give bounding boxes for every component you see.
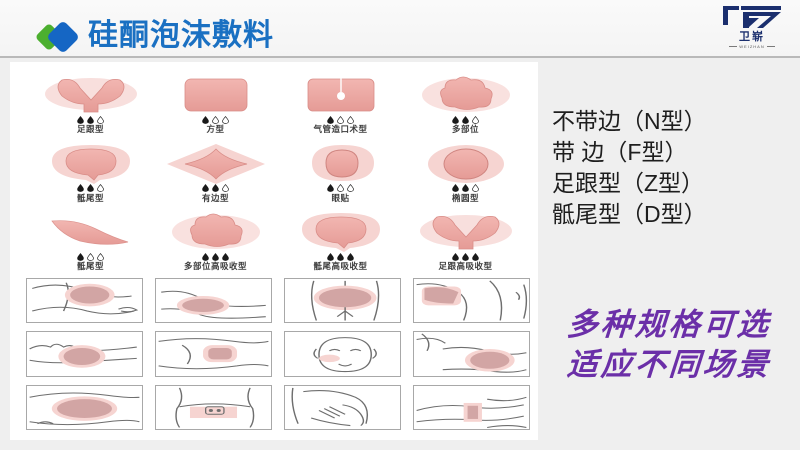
product-label: 多部位高吸收型 <box>184 261 247 272</box>
brand-pinyin-row: WEIZHAN <box>716 43 788 50</box>
product-label: 气管造口术型 <box>313 124 367 135</box>
product-cell[interactable]: 骶尾型 <box>28 205 153 273</box>
application-scene-grid <box>26 278 530 430</box>
scene-hip-side[interactable] <box>413 278 530 323</box>
product-label: 椭圆型 <box>452 193 479 204</box>
brand-dash-left <box>729 46 737 47</box>
product-cell[interactable]: 有边型 <box>153 136 278 204</box>
product-dressing-image <box>286 144 396 184</box>
product-type-name: 足跟型 <box>552 168 621 199</box>
product-dressing-image <box>411 75 521 115</box>
absorbency-droplet-rating <box>202 115 229 124</box>
product-label: 骶尾高吸收型 <box>313 261 367 272</box>
product-label: 骶尾型 <box>77 261 104 272</box>
scene-back-torso[interactable] <box>26 385 143 430</box>
scene-shoulder-arm[interactable] <box>26 278 143 323</box>
scene-knee-leg[interactable] <box>413 331 530 376</box>
absorbency-droplet-rating <box>327 184 354 193</box>
absorbency-droplet-rating <box>77 115 104 124</box>
product-dressing-image <box>36 144 146 184</box>
absorbency-droplet-rating <box>452 184 479 193</box>
absorbency-droplet-rating <box>77 184 104 193</box>
scene-neck-tracheostomy[interactable] <box>155 385 272 430</box>
product-dressing-image <box>36 75 146 115</box>
product-dressing-image <box>161 212 271 252</box>
product-type-name: 骶尾型 <box>552 199 621 230</box>
product-dressing-image <box>161 144 271 184</box>
page-title: 硅酮泡沫敷料 <box>88 17 274 55</box>
brand-name: 卫崭 <box>716 31 788 43</box>
scene-abdomen[interactable] <box>155 331 272 376</box>
product-cell[interactable]: 方型 <box>153 68 278 136</box>
scene-heel-foot[interactable] <box>26 331 143 376</box>
product-type-name: 带 边 <box>552 137 604 168</box>
product-dressing-image <box>286 212 396 252</box>
product-cell[interactable]: 足跟型 <box>28 68 153 136</box>
product-label: 方型 <box>206 124 224 135</box>
product-label: 有边型 <box>202 193 229 204</box>
header-divider <box>0 56 800 58</box>
slogan-line-2: 适应不同场景 <box>539 345 800 385</box>
product-label: 骶尾型 <box>77 193 104 204</box>
product-cell[interactable]: 多部位 <box>403 68 528 136</box>
product-cell[interactable]: 足跟高吸收型 <box>403 205 528 273</box>
product-type-row: 骶尾型（D型） <box>552 199 792 230</box>
scene-chest-hand[interactable] <box>284 385 401 430</box>
brand-logo: 卫崭 WEIZHAN <box>716 4 788 54</box>
page-header: 硅酮泡沫敷料 卫崭 WEIZHAN <box>0 0 800 58</box>
product-dressing-image <box>161 75 271 115</box>
product-cell[interactable]: 气管造口术型 <box>278 68 403 136</box>
absorbency-droplet-rating <box>202 252 229 261</box>
diamond-logo-icon <box>36 19 80 55</box>
product-panel: 足跟型 方型 气管造口术型 多部位 骶尾型 <box>10 62 538 440</box>
product-type-code: （F型） <box>604 137 687 168</box>
product-cell[interactable]: 骶尾型 <box>28 136 153 204</box>
product-type-name: 不带边 <box>552 106 621 137</box>
product-type-code: （D型） <box>621 199 707 230</box>
product-type-code: （Z型） <box>621 168 704 199</box>
product-label: 足跟型 <box>77 124 104 135</box>
brand-pinyin: WEIZHAN <box>739 44 764 50</box>
slogan-line-1: 多种规格可选 <box>539 305 800 345</box>
absorbency-droplet-rating <box>77 252 104 261</box>
product-label: 足跟高吸收型 <box>438 261 492 272</box>
product-dressing-image <box>411 212 521 252</box>
scene-ankle-wrap[interactable] <box>413 385 530 430</box>
brand-dash-right <box>767 46 775 47</box>
product-type-list: 不带边（N型）带 边（F型）足跟型（Z型）骶尾型（D型） <box>552 106 792 230</box>
slogan-block: 多种规格可选 适应不同场景 <box>540 305 798 385</box>
product-dressing-image <box>411 144 521 184</box>
product-dressing-image <box>36 212 146 252</box>
absorbency-droplet-rating <box>327 115 354 124</box>
absorbency-droplet-rating <box>452 115 479 124</box>
scene-face-cheek[interactable] <box>284 331 401 376</box>
product-type-code: （N型） <box>621 106 707 137</box>
product-cell[interactable]: 多部位高吸收型 <box>153 205 278 273</box>
product-cell[interactable]: 骶尾高吸收型 <box>278 205 403 273</box>
product-grid: 足跟型 方型 气管造口术型 多部位 骶尾型 <box>28 68 528 273</box>
scene-elbow[interactable] <box>155 278 272 323</box>
product-label: 多部位 <box>452 124 479 135</box>
product-type-row: 带 边（F型） <box>552 137 792 168</box>
scene-sacrum-back[interactable] <box>284 278 401 323</box>
product-type-row: 足跟型（Z型） <box>552 168 792 199</box>
product-dressing-image <box>286 75 396 115</box>
weizhan-w-mark-icon <box>719 4 785 30</box>
product-cell[interactable]: 椭圆型 <box>403 136 528 204</box>
product-type-row: 不带边（N型） <box>552 106 792 137</box>
absorbency-droplet-rating <box>452 252 479 261</box>
product-cell[interactable]: 眼贴 <box>278 136 403 204</box>
absorbency-droplet-rating <box>202 184 229 193</box>
product-label: 眼贴 <box>331 193 349 204</box>
absorbency-droplet-rating <box>327 252 354 261</box>
